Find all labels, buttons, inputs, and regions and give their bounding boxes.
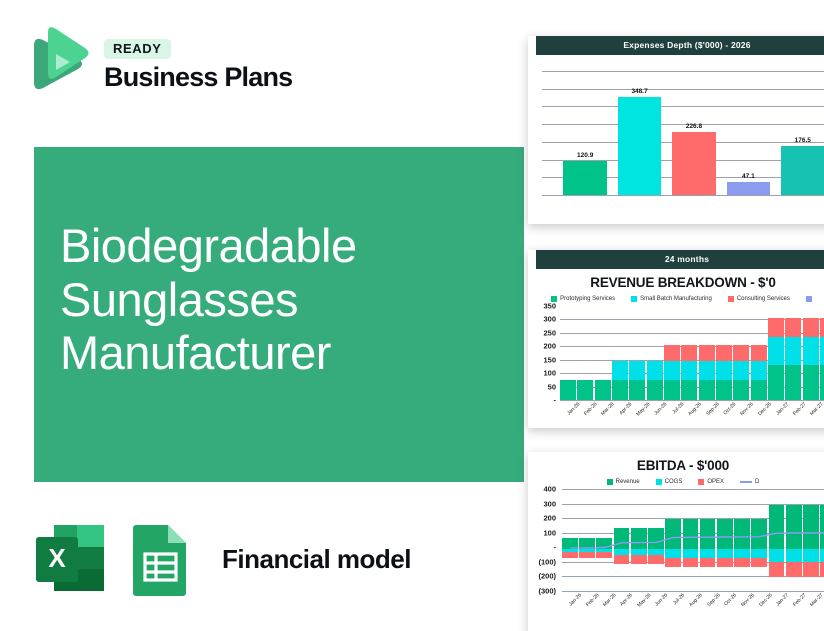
negative-stack: [665, 549, 681, 567]
legend-label: Prototyping Services: [560, 296, 615, 302]
legend-item: D: [740, 479, 759, 485]
bar-column: 226.8: [672, 71, 716, 195]
bar: [781, 146, 824, 195]
bar-column: [785, 306, 801, 400]
bar-segment: [769, 505, 785, 550]
bar-column: 120.9: [563, 71, 607, 195]
bar-segment: [683, 519, 699, 549]
legend-label: D: [755, 479, 759, 485]
bar-segment: [562, 538, 578, 549]
microsoft-excel-icon: X: [34, 521, 112, 597]
bar-column: [560, 306, 576, 400]
bar-segment: [751, 558, 767, 567]
bar-column: [803, 306, 819, 400]
y-tick-label: -: [554, 396, 557, 405]
chart-card-expenses[interactable]: Expenses Depth ($'000) - 2026 120.9348.7…: [528, 36, 824, 224]
bar-segment: [648, 528, 664, 549]
bar-column: 348.7: [618, 71, 662, 195]
bar-segment: [803, 549, 819, 562]
bar-segment: [577, 380, 593, 400]
bar-column: [665, 489, 681, 591]
legend-swatch: [698, 479, 704, 485]
positive-stack: [700, 519, 716, 549]
legend-item: Revenue: [607, 479, 640, 485]
negative-stack: [820, 549, 824, 577]
bar-column: [577, 306, 593, 400]
positive-stack: [648, 528, 664, 549]
bar: [727, 182, 771, 195]
y-tick-label: 400: [543, 485, 556, 494]
bar-column: [733, 306, 749, 400]
bar-segment: [785, 337, 801, 365]
svg-text:X: X: [48, 543, 66, 573]
gridline: [542, 195, 824, 196]
bar-segment: [629, 380, 645, 400]
bar-segment: [786, 549, 802, 562]
bar-value-label: 47.1: [742, 173, 755, 180]
bar-column: [631, 489, 647, 591]
bar-segment: [595, 380, 611, 400]
positive-stack: [562, 538, 578, 549]
bar-segment: [665, 519, 681, 549]
bar-value-label: 120.9: [577, 152, 593, 159]
bar-segment: [820, 337, 824, 365]
expenses-chart-title: Expenses Depth ($'000) - 2026: [536, 36, 824, 55]
bar-column: [562, 489, 578, 591]
bar-segment: [734, 549, 750, 558]
ebitda-chart-title: EBITDA - $'000: [528, 458, 824, 473]
legend-item: [806, 296, 815, 302]
bar-segment: [647, 380, 663, 400]
chart-card-revenue[interactable]: 24 months REVENUE BREAKDOWN - $'0 Protot…: [528, 250, 824, 428]
bar-segment: [664, 361, 680, 380]
y-tick-label: 200: [543, 514, 556, 523]
bar-segment: [681, 361, 697, 380]
bar-segment: [629, 361, 645, 380]
revenue-x-axis: Jan-26Feb-26Mar-26Apr-26May-26Jun-26Jul-…: [560, 400, 824, 422]
y-tick-label: 100: [543, 369, 556, 378]
legend-swatch: [740, 481, 752, 483]
bar-segment: [631, 528, 647, 549]
play-triangle-logo-icon: [28, 26, 90, 100]
bar-column: [596, 489, 612, 591]
bar-column: [820, 306, 824, 400]
bar: [563, 161, 607, 195]
positive-stack: [820, 505, 824, 550]
bar-value-label: 176.5: [795, 137, 811, 144]
bar-segment: [716, 380, 732, 400]
positive-stack: [596, 538, 612, 549]
y-tick-label: (100): [538, 557, 556, 566]
bar-segment: [596, 538, 612, 549]
bar-segment: [768, 365, 784, 400]
positive-stack: [665, 519, 681, 549]
bar-segment: [734, 558, 750, 567]
bar-segment: [768, 337, 784, 365]
bar-value-label: 226.8: [686, 123, 702, 130]
negative-stack: [683, 549, 699, 567]
bar-segment: [751, 345, 767, 361]
legend-item: Consulting Services: [728, 296, 790, 302]
brand-text-block: READY Business Plans: [104, 35, 292, 91]
bar-segment: [614, 528, 630, 549]
negative-stack: [614, 549, 630, 563]
negative-stack: [700, 549, 716, 567]
y-tick-label: 100: [543, 528, 556, 537]
y-tick-label: 50: [548, 382, 556, 391]
negative-stack: [631, 549, 647, 563]
y-tick-label: 300: [543, 499, 556, 508]
positive-stack: [803, 505, 819, 550]
bar-segment: [717, 549, 733, 558]
negative-stack: [734, 549, 750, 567]
revenue-chart-title: REVENUE BREAKDOWN - $'0: [528, 275, 824, 290]
legend-swatch: [806, 296, 812, 302]
bar-segment: [733, 380, 749, 400]
revenue-months-banner: 24 months: [536, 250, 824, 269]
bar-column: [734, 489, 750, 591]
bar-segment: [820, 505, 824, 550]
bar-segment: [665, 549, 681, 558]
bar-segment: [785, 365, 801, 400]
legend-label: Small Batch Manufacturing: [640, 296, 712, 302]
bar-column: [751, 489, 767, 591]
bar-segment: [717, 519, 733, 549]
bar-segment: [751, 519, 767, 549]
bar-segment: [733, 345, 749, 361]
bar-segment: [803, 318, 819, 338]
bar-segment: [579, 538, 595, 549]
bar-column: [683, 489, 699, 591]
bar-segment: [751, 361, 767, 380]
footer-row: X Financial model: [34, 521, 411, 597]
positive-stack: [769, 505, 785, 550]
negative-stack: [648, 549, 664, 563]
bar-segment: [803, 337, 819, 365]
legend-item: COGS: [656, 479, 683, 485]
positive-stack: [614, 528, 630, 549]
positive-stack: [683, 519, 699, 549]
y-tick-label: 250: [543, 328, 556, 337]
bar-column: [595, 306, 611, 400]
bar-column: [768, 306, 784, 400]
bar-segment: [562, 552, 578, 558]
financial-model-label: Financial model: [222, 544, 411, 575]
bar-column: [716, 306, 732, 400]
y-tick-label: -: [554, 543, 557, 552]
bar-column: [700, 489, 716, 591]
legend-swatch: [728, 296, 734, 302]
bar-segment: [716, 345, 732, 361]
bar-column: [664, 306, 680, 400]
expenses-bar-group: 120.9348.7226.847.1176.5: [558, 71, 824, 195]
bar-column: [769, 489, 785, 591]
bar-segment: [769, 562, 785, 577]
legend-label: OPEX: [707, 479, 724, 485]
negative-stack: [579, 549, 595, 558]
bar-segment: [751, 380, 767, 400]
bar-segment: [716, 361, 732, 380]
bar-segment: [596, 552, 612, 558]
bar-column: [614, 489, 630, 591]
bar-value-label: 348.7: [631, 88, 647, 95]
bar-segment: [560, 380, 576, 400]
ebitda-x-axis: Jan-26Feb-26Mar-26Apr-26May-26Jun-26Jul-…: [562, 591, 824, 613]
bar-segment: [803, 505, 819, 550]
bar-segment: [664, 380, 680, 400]
bar-segment: [820, 562, 824, 577]
bar-segment: [579, 552, 595, 558]
y-tick-label: 300: [543, 315, 556, 324]
bar-column: [786, 489, 802, 591]
bar-column: 176.5: [781, 71, 824, 195]
y-tick-label: (200): [538, 572, 556, 581]
y-tick-label: 350: [543, 302, 556, 311]
revenue-bar-group: [560, 306, 824, 400]
legend-swatch: [607, 479, 613, 485]
positive-stack: [786, 505, 802, 550]
bar-segment: [734, 519, 750, 549]
bar-segment: [700, 558, 716, 567]
bar-segment: [768, 318, 784, 338]
bar: [672, 132, 716, 196]
bar-segment: [803, 365, 819, 400]
revenue-plot-area: 35030025020015010050- Jan-26Feb-26Mar-26…: [528, 304, 824, 422]
y-tick-label: (300): [538, 587, 556, 596]
bar-column: [820, 489, 824, 591]
bar-segment: [681, 380, 697, 400]
negative-stack: [562, 549, 578, 558]
bar-segment: [683, 549, 699, 558]
google-sheets-icon: [130, 521, 192, 597]
bar-segment: [700, 549, 716, 558]
page-title: Biodegradable Sunglasses Manufacturer: [60, 219, 500, 380]
negative-stack: [803, 549, 819, 577]
bar-segment: [786, 562, 802, 577]
bar-segment: [733, 361, 749, 380]
bar-segment: [647, 361, 663, 380]
bar-column: [579, 489, 595, 591]
ebitda-legend: RevenueCOGSOPEXD: [528, 479, 824, 485]
bar-segment: [699, 345, 715, 361]
bar-segment: [751, 549, 767, 558]
hero-panel: Biodegradable Sunglasses Manufacturer: [34, 147, 524, 482]
bar-column: [612, 306, 628, 400]
negative-stack: [751, 549, 767, 567]
bar-segment: [699, 380, 715, 400]
ebitda-bar-group: [562, 489, 824, 591]
bar-segment: [648, 555, 664, 563]
bar-segment: [612, 361, 628, 380]
y-tick-label: 150: [543, 355, 556, 364]
positive-stack: [734, 519, 750, 549]
bar-column: [699, 306, 715, 400]
x-tick-label: Mar-27: [808, 591, 824, 618]
negative-stack: [769, 549, 785, 577]
bar-column: [647, 306, 663, 400]
bar-segment: [612, 380, 628, 400]
bar-segment: [683, 558, 699, 567]
bar: [618, 97, 662, 195]
bar-segment: [664, 345, 680, 361]
bar-segment: [681, 345, 697, 361]
ready-badge: READY: [104, 39, 171, 59]
y-tick-label: 200: [543, 342, 556, 351]
bar-segment: [665, 558, 681, 567]
legend-swatch: [631, 296, 637, 302]
negative-stack: [596, 549, 612, 558]
bar-segment: [785, 318, 801, 338]
bar-segment: [699, 361, 715, 380]
legend-label: Revenue: [616, 479, 640, 485]
positive-stack: [717, 519, 733, 549]
bar-segment: [786, 505, 802, 550]
bar-segment: [631, 555, 647, 563]
ebitda-plot-area: 400300200100-(100)(200)(300) Jan-26Feb-2…: [528, 487, 824, 613]
bar-column: [681, 306, 697, 400]
positive-stack: [631, 528, 647, 549]
bar-column: [751, 306, 767, 400]
negative-stack: [786, 549, 802, 577]
positive-stack: [751, 519, 767, 549]
expenses-plot-area: 120.9348.7226.847.1176.5: [528, 57, 824, 203]
legend-label: COGS: [665, 479, 683, 485]
bar-segment: [614, 555, 630, 563]
bar-column: [717, 489, 733, 591]
bar-column: [629, 306, 645, 400]
bar-segment: [803, 562, 819, 577]
revenue-y-axis: 35030025020015010050-: [528, 304, 558, 422]
ebitda-y-axis: 400300200100-(100)(200)(300): [528, 487, 558, 613]
bar-column: [648, 489, 664, 591]
legend-swatch: [656, 479, 662, 485]
bar-column: 47.1: [727, 71, 771, 195]
bar-segment: [820, 549, 824, 562]
bar-column: [803, 489, 819, 591]
chart-card-ebitda[interactable]: EBITDA - $'000 RevenueCOGSOPEXD 40030020…: [528, 452, 824, 631]
bar-segment: [820, 365, 824, 400]
legend-item: Prototyping Services: [551, 296, 615, 302]
revenue-legend: Prototyping ServicesSmall Batch Manufact…: [528, 296, 824, 302]
brand-name: Business Plans: [104, 63, 292, 91]
legend-item: Small Batch Manufacturing: [631, 296, 712, 302]
slide-canvas: READY Business Plans Biodegradable Sungl…: [0, 0, 824, 631]
negative-stack: [717, 549, 733, 567]
brand-lockup: READY Business Plans: [28, 26, 292, 100]
bar-segment: [700, 519, 716, 549]
bar-segment: [717, 558, 733, 567]
positive-stack: [579, 538, 595, 549]
bar-segment: [820, 318, 824, 338]
legend-item: OPEX: [698, 479, 724, 485]
legend-label: Consulting Services: [737, 296, 790, 302]
bar-segment: [769, 549, 785, 562]
